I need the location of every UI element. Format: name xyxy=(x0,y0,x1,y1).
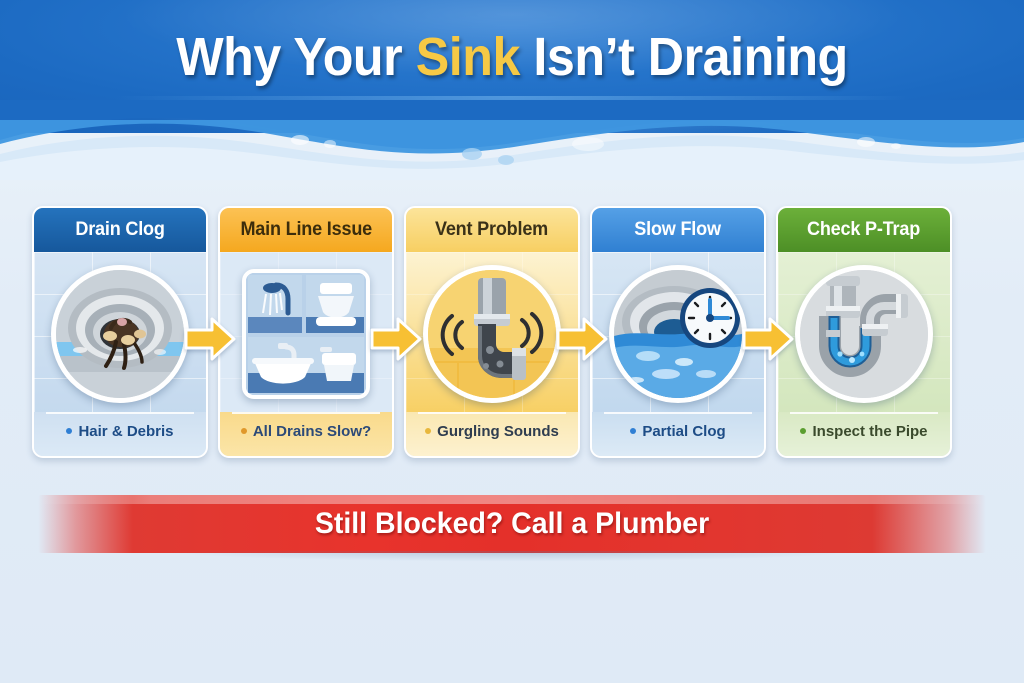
card-caption-1: Hair & Debris xyxy=(34,423,206,440)
card-header-5: Check P-Trap xyxy=(778,208,950,252)
water-wave-divider xyxy=(0,100,1024,180)
flow-card-vent-problem[interactable]: Vent Problem xyxy=(404,206,580,458)
right-arrow-icon-4 xyxy=(742,316,794,362)
infographic-canvas: Why Your Sink Isn’t Draining Drain Clog xyxy=(0,0,1024,683)
card-caption-text-1: Hair & Debris xyxy=(78,423,173,440)
footer-divider-1 xyxy=(46,412,194,414)
card-body-4 xyxy=(592,252,764,416)
p-trap-pipe-icon xyxy=(795,265,933,403)
footer-divider-3 xyxy=(418,412,566,414)
page-title: Why Your Sink Isn’t Draining xyxy=(36,26,988,88)
footer-divider-4 xyxy=(604,412,752,414)
bullet-dot-2 xyxy=(241,428,247,434)
card-caption-4: Partial Clog xyxy=(592,423,764,440)
bathroom-fixtures-icon xyxy=(242,269,370,399)
card-header-2: Main Line Issue xyxy=(220,208,392,252)
card-footer-5: Inspect the Pipe xyxy=(778,412,950,456)
banner-drop-shadow xyxy=(46,551,978,565)
banner-highlight xyxy=(38,495,986,504)
card-caption-5: Inspect the Pipe xyxy=(778,423,950,440)
footer-divider-2 xyxy=(232,412,380,414)
card-footer-2: All Drains Slow? xyxy=(220,412,392,456)
bullet-dot-3 xyxy=(425,428,431,434)
flow-card-slow-flow[interactable]: Slow Flow xyxy=(590,206,766,458)
card-footer-4: Partial Clog xyxy=(592,412,764,456)
page-title-part2: Isn’t Draining xyxy=(520,27,848,87)
flow-card-main-line-issue[interactable]: Main Line Issue xyxy=(218,206,394,458)
page-title-part1: Why Your xyxy=(176,27,415,87)
flow-card-check-p-trap[interactable]: Check P-Trap xyxy=(776,206,952,458)
right-arrow-icon-1 xyxy=(184,316,236,362)
flow-card-row: Drain Clog xyxy=(0,206,1024,460)
clogged-drain-icon xyxy=(51,265,189,403)
bullet-dot-4 xyxy=(630,428,636,434)
call-to-action-text: Still Blocked? Call a Plumber xyxy=(62,507,963,541)
call-to-action-banner[interactable]: Still Blocked? Call a Plumber xyxy=(38,495,986,553)
bullet-dot-1 xyxy=(66,428,72,434)
card-footer-3: Gurgling Sounds xyxy=(406,412,578,456)
draining-water-clock-icon xyxy=(609,265,747,403)
card-footer-1: Hair & Debris xyxy=(34,412,206,456)
right-arrow-icon-3 xyxy=(556,316,608,362)
card-caption-3: Gurgling Sounds xyxy=(406,423,578,440)
card-caption-text-2: All Drains Slow? xyxy=(253,423,371,440)
card-title-3: Vent Problem xyxy=(435,219,548,241)
page-title-highlight: Sink xyxy=(416,27,520,87)
bullet-dot-5 xyxy=(800,428,806,434)
card-header-1: Drain Clog xyxy=(34,208,206,252)
card-title-4: Slow Flow xyxy=(635,219,722,241)
card-body-5 xyxy=(778,252,950,416)
card-caption-text-5: Inspect the Pipe xyxy=(812,423,927,440)
card-caption-2: All Drains Slow? xyxy=(220,423,392,440)
card-header-3: Vent Problem xyxy=(406,208,578,252)
footer-divider-5 xyxy=(790,412,938,414)
right-arrow-icon-2 xyxy=(370,316,422,362)
card-body-1 xyxy=(34,252,206,416)
card-body-2 xyxy=(220,252,392,416)
card-title-2: Main Line Issue xyxy=(240,219,372,241)
flow-card-drain-clog[interactable]: Drain Clog xyxy=(32,206,208,458)
card-header-4: Slow Flow xyxy=(592,208,764,252)
card-title-5: Check P-Trap xyxy=(807,219,920,241)
vent-pipe-icon xyxy=(423,265,561,403)
card-title-1: Drain Clog xyxy=(75,219,164,241)
card-caption-text-3: Gurgling Sounds xyxy=(437,423,559,440)
card-caption-text-4: Partial Clog xyxy=(642,423,725,440)
card-body-3 xyxy=(406,252,578,416)
